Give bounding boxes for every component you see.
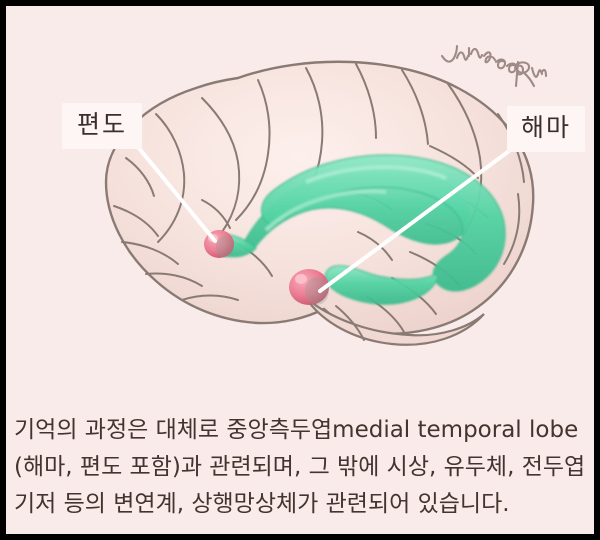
amygdala-left-shadow <box>216 236 234 258</box>
brain-illustration: 편도 해마 <box>6 6 594 406</box>
amygdala-right-highlight <box>295 274 307 284</box>
figure-root: 편도 해마 기억의 과정은 대체로 중앙측두엽medial temporal l… <box>0 0 600 540</box>
caption-line-1: 기억의 과정은 대체로 중앙측두엽medial temporal lobe <box>14 412 588 449</box>
brain-diagram-svg <box>6 6 594 406</box>
callout-label-hippocampus[interactable]: 해마 <box>507 106 585 152</box>
callout-label-amygdala[interactable]: 편도 <box>62 103 142 149</box>
caption-block: 기억의 과정은 대체로 중앙측두엽medial temporal lobe (해… <box>6 404 594 534</box>
caption-line-2: (해마, 편도 포함)과 관련되며, 그 밖에 시상, 유두체, 전두엽 <box>14 449 588 486</box>
amygdala-right-shadow <box>305 277 329 305</box>
caption-line-3: 기저 등의 변연계, 상행망상체가 관련되어 있습니다. <box>14 486 588 523</box>
figure-canvas: 편도 해마 기억의 과정은 대체로 중앙측두엽medial temporal l… <box>6 6 594 534</box>
